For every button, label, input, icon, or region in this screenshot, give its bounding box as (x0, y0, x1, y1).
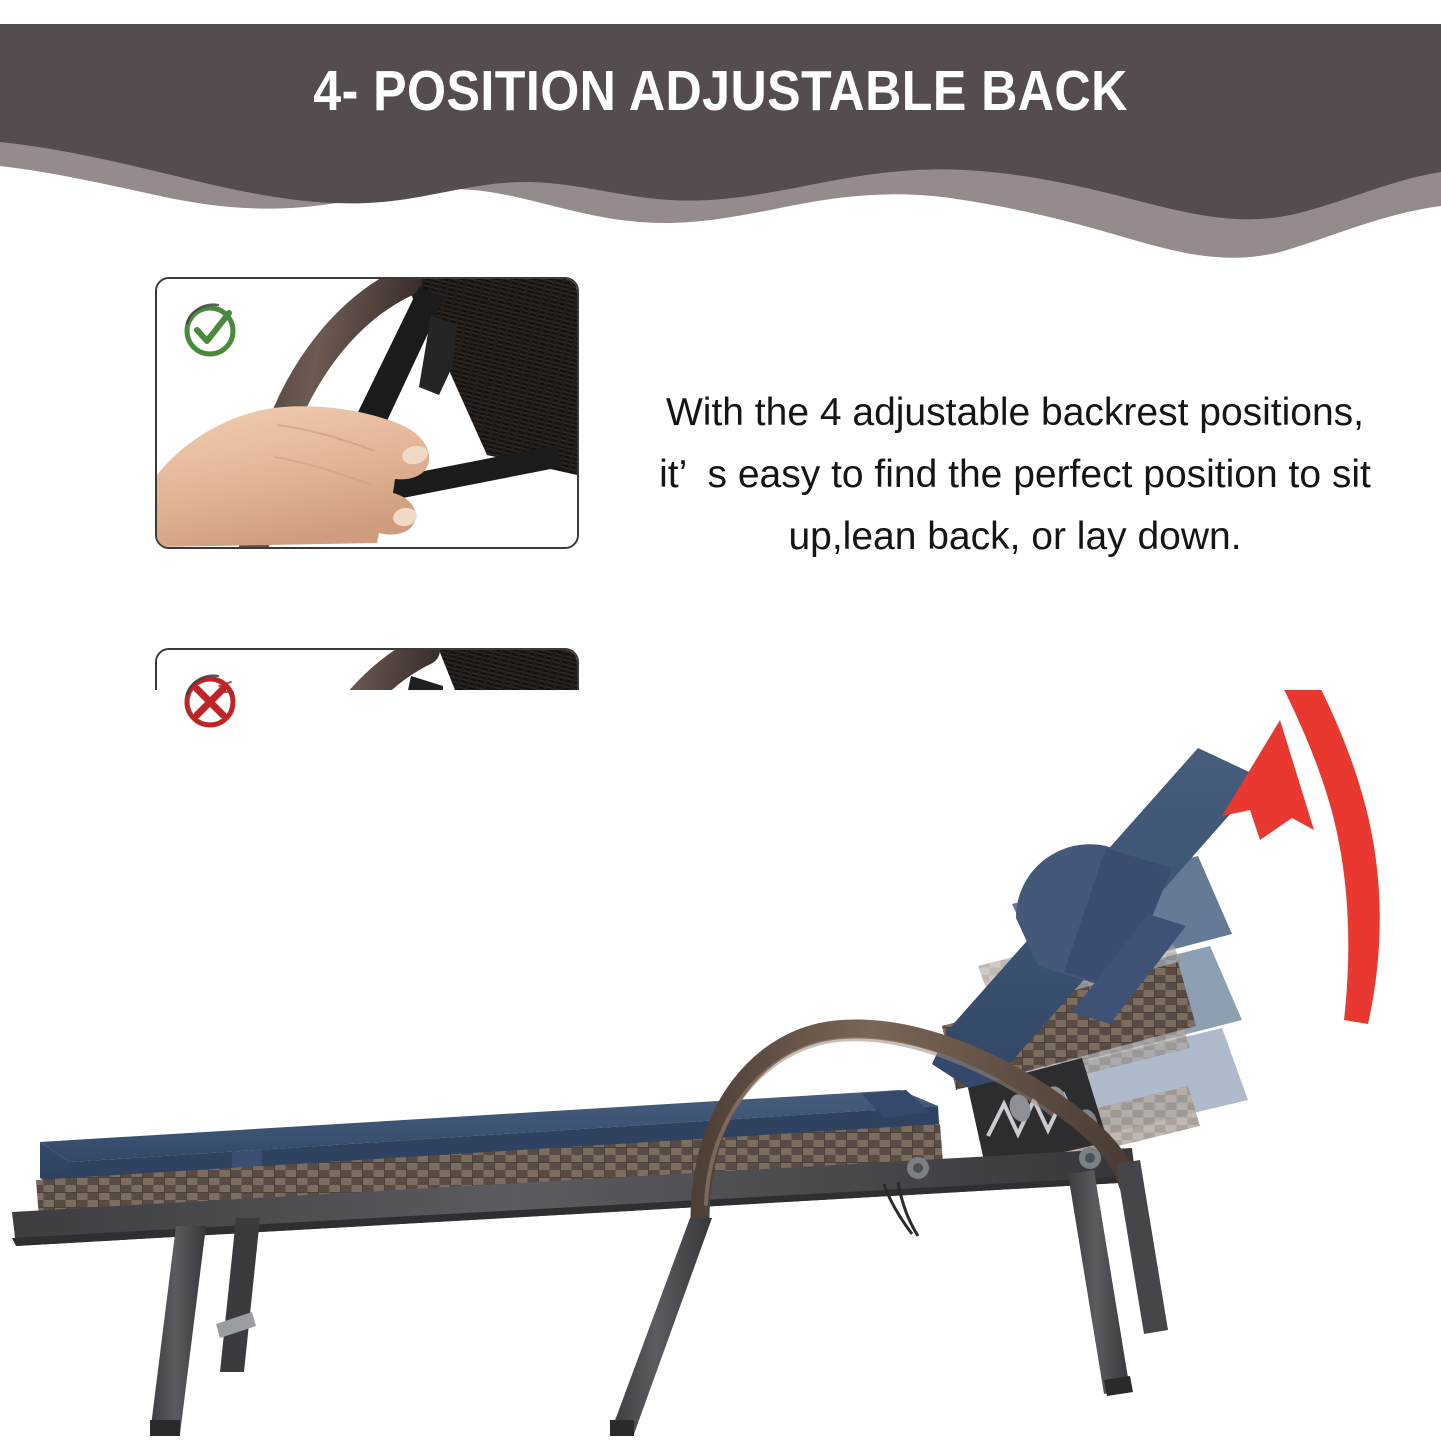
description-line-2: it’ s easy to find the perfect position … (610, 444, 1420, 506)
header-banner: 4- POSITION ADJUSTABLE BACK (0, 0, 1441, 262)
product-photo-chaise-lounge (0, 690, 1441, 1441)
leg-foot-cap (610, 1420, 634, 1436)
frame-bolt (1085, 1153, 1095, 1163)
x-circle-icon (179, 670, 241, 732)
infographic-page: 4- POSITION ADJUSTABLE BACK (0, 0, 1441, 1441)
chaise-lounge-illustration (0, 690, 1441, 1441)
frame-bolt (913, 1163, 923, 1173)
check-circle-icon (179, 299, 241, 361)
description-line-1: With the 4 adjustable backrest positions… (610, 382, 1420, 444)
header-wave-graphic (0, 0, 1441, 262)
check-circle-icon-svg (179, 299, 241, 361)
leg-foot-cap (150, 1420, 180, 1436)
description-line-3: up,lean back, or lay down. (610, 506, 1420, 568)
description-text: With the 4 adjustable backrest positions… (610, 382, 1420, 568)
x-circle-icon-svg (179, 670, 241, 732)
inset-card-correct-grip (155, 277, 579, 549)
